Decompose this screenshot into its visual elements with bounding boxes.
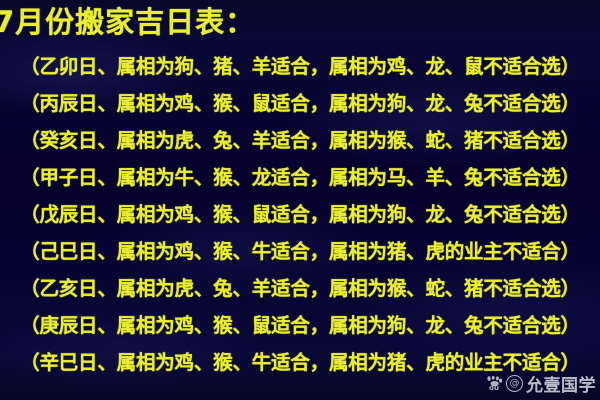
list-item: （癸亥日、属相为虎、兔、羊适合，属相为猴、蛇、猪不适合选） <box>0 122 600 159</box>
auspicious-day-list: （乙卯日、属相为狗、猪、羊适合，属相为鸡、龙、鼠不适合选） （丙辰日、属相为鸡、… <box>0 48 600 381</box>
list-item: （辛巳日、属相为鸡、猴、牛适合，属相为猪、虎的业主不适合） <box>0 344 600 381</box>
page-title: 7月份搬家吉日表： <box>0 3 600 41</box>
list-item: （庚辰日、属相为鸡、猴、鼠适合，属相为狗、龙、兔不适合选） <box>0 307 600 344</box>
list-item: （甲子日、属相为牛、猴、龙适合，属相为马、羊、兔不适合选） <box>0 159 600 196</box>
list-item: （丙辰日、属相为鸡、猴、鼠适合，属相为狗、龙、兔不适合选） <box>0 85 600 122</box>
list-item: （乙卯日、属相为狗、猪、羊适合，属相为鸡、龙、鼠不适合选） <box>0 48 600 85</box>
poster-canvas: 7月份搬家吉日表： （乙卯日、属相为狗、猪、羊适合，属相为鸡、龙、鼠不适合选） … <box>0 0 600 400</box>
list-item: （乙亥日、属相为虎、兔、羊适合，属相为猴、蛇、猪不适合选） <box>0 270 600 307</box>
list-item: （戊辰日、属相为鸡、猴、鼠适合，属相为狗、龙、兔不适合选） <box>0 196 600 233</box>
list-item: （己巳日、属相为鸡、猴、牛适合，属相为猪、虎的业主不适合） <box>0 233 600 270</box>
poster-content: 7月份搬家吉日表： （乙卯日、属相为狗、猪、羊适合，属相为鸡、龙、鼠不适合选） … <box>0 0 600 400</box>
